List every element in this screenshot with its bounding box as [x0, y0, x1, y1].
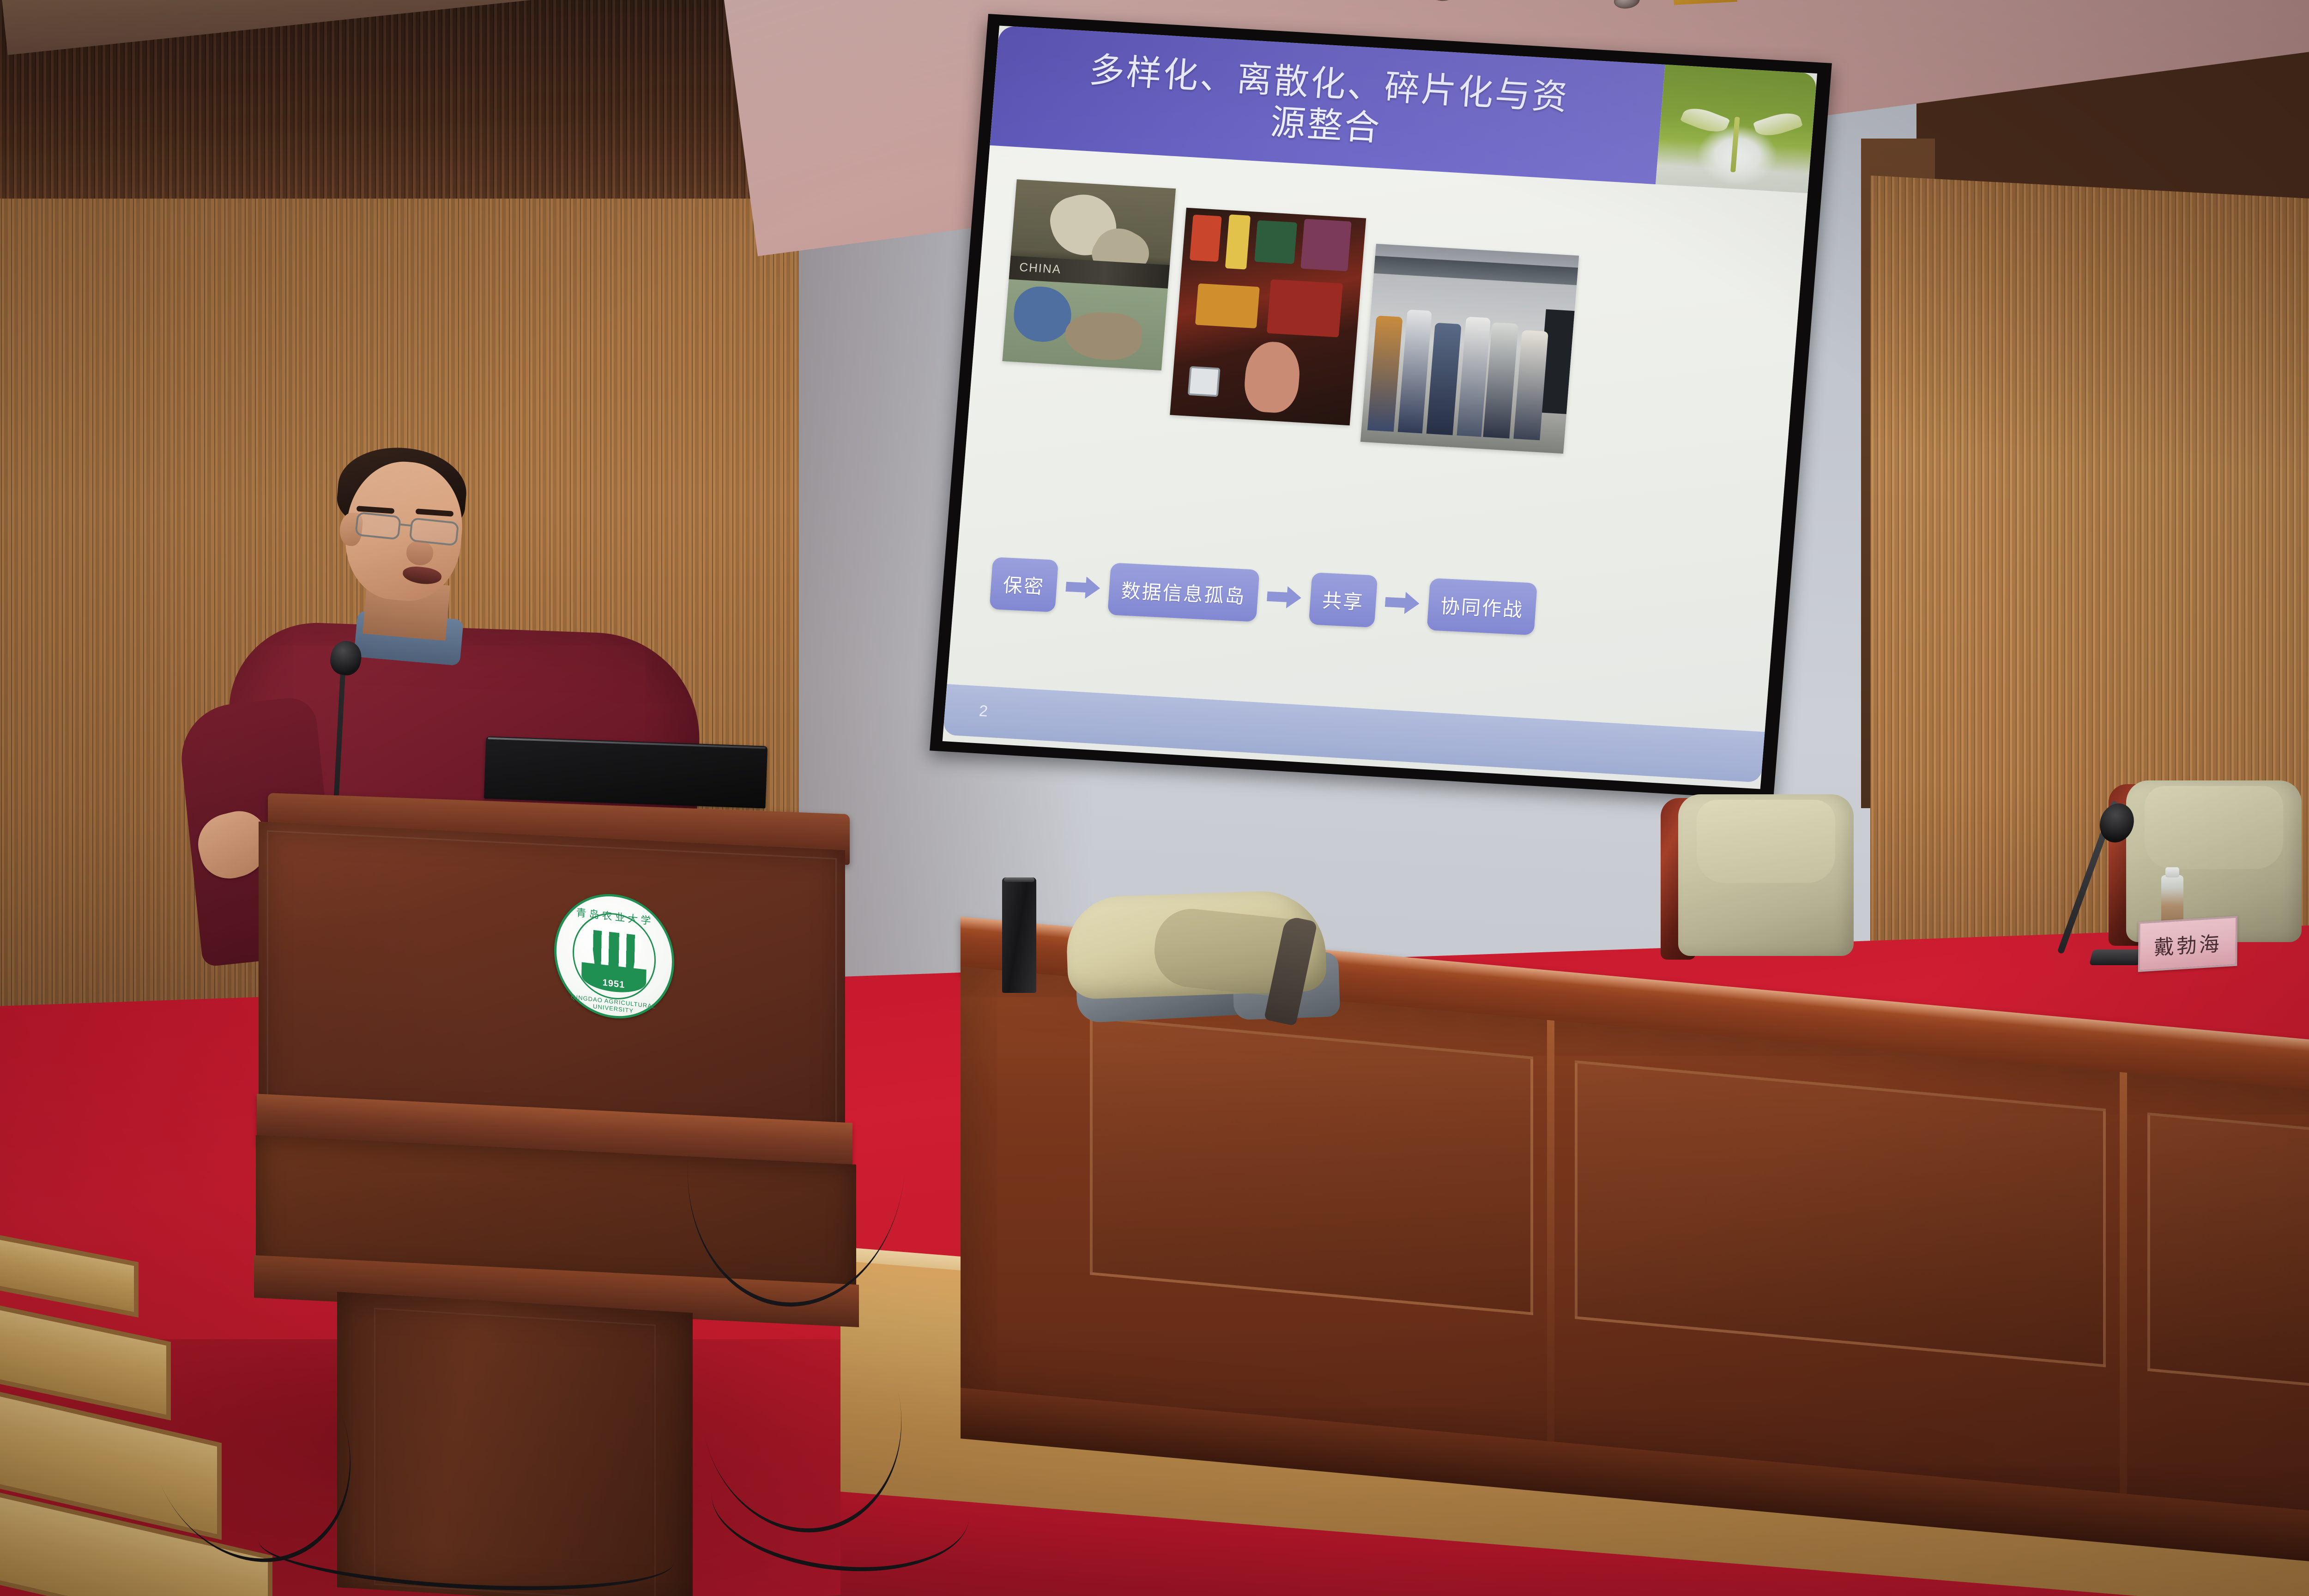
commuters-on-phones-photo	[1360, 244, 1579, 453]
microphone-base	[2089, 949, 2144, 965]
photo-caption-text: CHINA	[1019, 260, 1062, 277]
conference-chair[interactable]	[1658, 794, 1856, 970]
sprout-stem	[1730, 117, 1740, 172]
university-emblem: 青岛农业大学 1951 QINGDAO AGRICULTURAL UNIVERS…	[553, 888, 676, 1025]
ceiling-downlight	[1613, 0, 1641, 10]
table-divider	[1547, 1020, 1554, 1455]
projection-screen[interactable]: 多样化、离散化、碎片化与资源整合 CHINA	[930, 14, 1832, 800]
slide-body: CHINA 保密	[947, 145, 1808, 732]
crowded-market-stall-photo	[1170, 208, 1366, 425]
presentation-slide: 多样化、离散化、碎片化与资源整合 CHINA	[943, 25, 1817, 789]
flow-arrow-icon	[1384, 591, 1420, 615]
name-card-face: 戴勃海	[2138, 916, 2238, 972]
slide-title: 多样化、离散化、碎片化与资源整合	[1075, 49, 1579, 161]
flow-step-3: 共享	[1309, 572, 1378, 628]
eyeglass-lens-left	[355, 512, 401, 540]
green-sprout-photo	[1656, 65, 1817, 193]
vintage-newspaper-collage: CHINA	[1002, 179, 1176, 370]
ceiling-light-fixture	[1654, 0, 1781, 7]
chair-headrest	[2145, 786, 2283, 869]
table-divider	[2120, 1072, 2127, 1506]
sprout-leaf-left	[1680, 103, 1730, 137]
table-inlay-panel	[1090, 1016, 1533, 1315]
laptop[interactable]	[484, 736, 768, 808]
slide-page-number: 2	[979, 705, 988, 719]
flow-step-2: 数据信息孤岛	[1107, 562, 1259, 622]
emblem-chinese-name: 青岛农业大学	[557, 902, 673, 930]
name-card: 戴勃海	[2138, 916, 2238, 972]
chair-headrest	[1697, 800, 1835, 883]
slide-flow-diagram: 保密 数据信息孤岛 共享 协同作战	[989, 557, 1747, 645]
coat-over-bag	[1058, 884, 1372, 1023]
gooseneck-microphone[interactable]	[2037, 748, 2147, 965]
emblem-year: 1951	[556, 972, 671, 996]
emblem-monogram-icon	[590, 930, 639, 985]
emblem-arc	[581, 962, 647, 996]
flow-arrow-icon	[1266, 585, 1302, 609]
slide-photo-row: CHINA	[997, 182, 1775, 465]
flow-step-4: 协同作战	[1427, 578, 1538, 635]
flow-step-1: 保密	[989, 557, 1058, 612]
lecture-hall-photo: 多样化、离散化、碎片化与资源整合 CHINA	[0, 0, 2309, 1596]
microphone-head-icon	[2094, 798, 2139, 847]
microphone-neck	[2057, 800, 2118, 955]
table-inlay-panel	[2147, 1112, 2309, 1395]
flow-arrow-icon	[1065, 575, 1100, 599]
sprout-leaf-right	[1753, 108, 1803, 141]
emblem-inner-ring	[572, 909, 656, 1004]
stage-speaker-post	[1002, 877, 1036, 993]
ceiling-downlight	[1430, 0, 1458, 2]
table-inlay-panel	[1575, 1060, 2106, 1367]
emblem-english-name: QINGDAO AGRICULTURAL UNIVERSITY	[556, 991, 671, 1019]
eyeglass-bridge	[400, 524, 411, 526]
name-card-text: 戴勃海	[2154, 927, 2222, 961]
